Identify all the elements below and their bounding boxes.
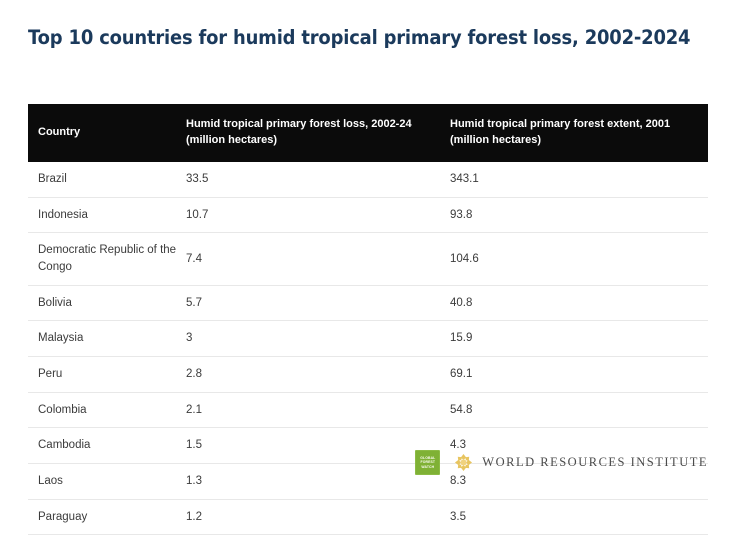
cell-extent: 343.1 bbox=[450, 162, 708, 197]
cell-extent: 54.8 bbox=[450, 392, 708, 428]
cell-loss: 10.7 bbox=[186, 197, 450, 233]
cell-loss: 3 bbox=[186, 321, 450, 357]
cell-extent: 15.9 bbox=[450, 321, 708, 357]
table-row: Democratic Republic of the Congo 7.4 104… bbox=[28, 233, 708, 285]
table-header: Country Humid tropical primary forest lo… bbox=[28, 104, 708, 162]
column-header-country: Country bbox=[28, 104, 186, 162]
cell-country: Malaysia bbox=[28, 321, 186, 357]
table-row: Peru 2.8 69.1 bbox=[28, 356, 708, 392]
column-header-loss-line1: Humid tropical primary forest loss, 2002… bbox=[186, 117, 436, 133]
table-row: Brazil 33.5 343.1 bbox=[28, 162, 708, 197]
cell-extent: 3.5 bbox=[450, 499, 708, 535]
cell-extent: 104.6 bbox=[450, 233, 708, 285]
table-row: Colombia 2.1 54.8 bbox=[28, 392, 708, 428]
gfw-logo-line3: WATCH bbox=[421, 465, 434, 470]
column-header-extent-line1: Humid tropical primary forest extent, 20… bbox=[450, 117, 698, 133]
cell-loss: 1.2 bbox=[186, 499, 450, 535]
world-resources-institute-logo: WORLD RESOURCES INSTITUTE bbox=[454, 453, 708, 472]
cell-country: Paraguay bbox=[28, 499, 186, 535]
logo-row: GLOBAL FOREST WATCH WORLD RESOURCES INST bbox=[415, 450, 708, 475]
footer: GLOBAL FOREST WATCH WORLD RESOURCES INST bbox=[0, 450, 741, 486]
cell-country: Colombia bbox=[28, 392, 186, 428]
wri-diamond-rosette-icon bbox=[454, 453, 473, 472]
table-header-row: Country Humid tropical primary forest lo… bbox=[28, 104, 708, 162]
cell-country: Indonesia bbox=[28, 197, 186, 233]
column-header-loss-line2: (million hectares) bbox=[186, 133, 436, 149]
cell-extent: 93.8 bbox=[450, 197, 708, 233]
table-row: Indonesia 10.7 93.8 bbox=[28, 197, 708, 233]
table-row: Paraguay 1.2 3.5 bbox=[28, 499, 708, 535]
column-header-loss: Humid tropical primary forest loss, 2002… bbox=[186, 104, 450, 162]
cell-country: Bolivia bbox=[28, 285, 186, 321]
cell-country: Peru bbox=[28, 356, 186, 392]
cell-loss: 7.4 bbox=[186, 233, 450, 285]
table-row: Malaysia 3 15.9 bbox=[28, 321, 708, 357]
cell-extent: 40.8 bbox=[450, 285, 708, 321]
cell-extent: 69.1 bbox=[450, 356, 708, 392]
page-title: Top 10 countries for humid tropical prim… bbox=[28, 26, 690, 49]
cell-loss: 2.8 bbox=[186, 356, 450, 392]
cell-country: Brazil bbox=[28, 162, 186, 197]
cell-loss: 5.7 bbox=[186, 285, 450, 321]
column-header-extent: Humid tropical primary forest extent, 20… bbox=[450, 104, 708, 162]
wri-logo-text: WORLD RESOURCES INSTITUTE bbox=[482, 455, 708, 470]
cell-loss: 2.1 bbox=[186, 392, 450, 428]
cell-loss: 33.5 bbox=[186, 162, 450, 197]
cell-country: Democratic Republic of the Congo bbox=[28, 233, 186, 285]
global-forest-watch-logo: GLOBAL FOREST WATCH bbox=[415, 450, 440, 475]
column-header-extent-line2: (million hectares) bbox=[450, 133, 698, 149]
table-row: Bolivia 5.7 40.8 bbox=[28, 285, 708, 321]
